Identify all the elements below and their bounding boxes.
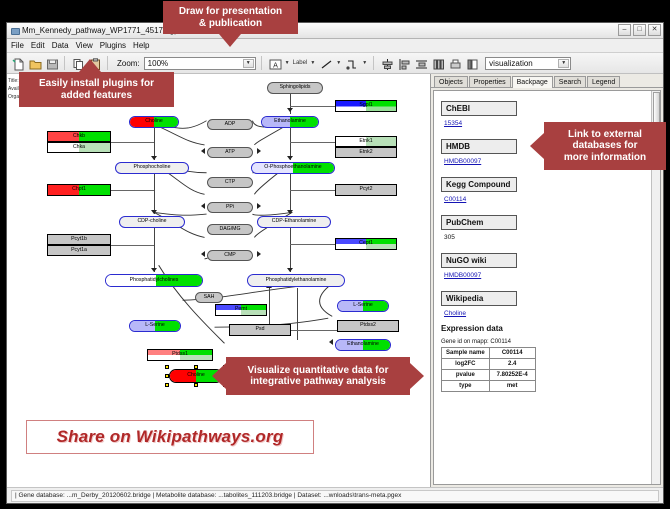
status-text: | Gene database: ...m_Derby_20120602.bri… (11, 490, 659, 502)
label-tool-label[interactable]: Label (293, 60, 308, 66)
arrowhead-atp (201, 148, 205, 154)
arrowhead-4 (287, 108, 293, 112)
expr-val-type: met (489, 381, 535, 392)
minimize-button[interactable]: – (618, 24, 631, 36)
callout-draw: Draw for presentation & publication (163, 1, 298, 34)
node-o-phosphoethanolamine[interactable]: O-Phosphoethanolamine (251, 162, 335, 174)
node-etnk1[interactable]: Etnk1 (335, 136, 397, 147)
svg-text:A: A (273, 61, 278, 69)
zoom-combo[interactable]: 100% ▼ (144, 57, 256, 70)
arrowhead-7 (287, 268, 293, 272)
connector-tool-chevron-icon[interactable]: ▼ (362, 60, 367, 66)
table-row: pvalue 7.80252E-4 (442, 370, 536, 381)
distribute-icon[interactable] (413, 56, 428, 71)
tab-legend[interactable]: Legend (587, 76, 620, 87)
arrowhead-2 (151, 210, 157, 214)
toolbar-separator-3 (261, 56, 262, 70)
maximize-button[interactable]: □ (633, 24, 646, 36)
toolbar-separator-2 (107, 56, 108, 70)
edge-ptdss2-pe (297, 288, 298, 340)
title-bar: Mm_Kennedy_pathway_WP1771_45176.gpml – □… (7, 23, 663, 39)
align-left-icon[interactable] (396, 56, 411, 71)
toolbar: Zoom: 100% ▼ A ▼ Label ▼ ▼ ▼ (7, 53, 663, 74)
open-folder-icon[interactable] (27, 56, 42, 71)
node-pemt[interactable]: Pemt (215, 304, 267, 316)
link-pcyt2-spine (290, 190, 335, 191)
table-row: Sample name C00114 (442, 348, 536, 359)
node-pcyt1a[interactable]: Pcyt1a (47, 245, 111, 256)
table-row: log2FC 2.4 (442, 359, 536, 370)
text-tool-chevron-icon[interactable]: ▼ (285, 60, 290, 66)
db-link-wikipedia[interactable]: Choline (444, 310, 644, 317)
zoom-value: 100% (148, 59, 168, 68)
zoom-label: Zoom: (117, 59, 140, 68)
resize-handle-w[interactable] (165, 374, 169, 378)
callout-links: Link to external databases for more info… (544, 122, 666, 170)
arrowhead-atp-r (257, 148, 261, 154)
arrowhead-cmp-r (257, 251, 261, 257)
node-phosphatidylethanolamine[interactable]: Phosphatidylethanolamine (247, 274, 345, 287)
db-link-kegg[interactable]: C00114 (444, 196, 644, 203)
app-icon (10, 26, 19, 35)
resize-handle-s[interactable] (194, 383, 198, 387)
db-header-nugo: NuGO wiki (441, 253, 517, 268)
node-cdp-choline[interactable]: CDP-choline (119, 216, 185, 228)
visualization-value: visualization (489, 59, 533, 68)
edge-phosphocholine-cdpcholine (154, 174, 155, 214)
callout-draw-arrow-icon (219, 34, 241, 47)
tab-properties[interactable]: Properties (469, 76, 511, 87)
expr-key-sample-name: Sample name (442, 348, 490, 359)
node-chpt1[interactable]: Chpt1 (47, 184, 111, 196)
db-header-chebi: ChEBI (441, 101, 517, 116)
expression-table: Sample name C00114 log2FC 2.4 pvalue 7.8… (441, 347, 536, 392)
db-header-kegg: Kegg Compound (441, 177, 517, 192)
line-tool-chevron-icon[interactable]: ▼ (336, 60, 341, 66)
node-phosphatidylcholines[interactable]: Phosphatidylcholines (105, 274, 203, 287)
node-psd[interactable]: Psd (229, 324, 291, 336)
resize-handle-sw[interactable] (165, 383, 169, 387)
save-icon[interactable] (44, 56, 59, 71)
node-adp[interactable]: ADP (207, 119, 253, 130)
node-ethanolamine[interactable]: Ethanolamine (261, 116, 319, 128)
toolbar-separator-1 (64, 56, 65, 70)
edge-cdpcholine-pc (154, 228, 155, 272)
node-atp[interactable]: ATP (207, 147, 253, 158)
node-sah[interactable]: SAH (195, 292, 223, 303)
menu-plugins[interactable]: Plugins (100, 41, 126, 50)
resize-handle-nw[interactable] (165, 365, 169, 369)
callout-visualize-arrow-left-icon (212, 363, 226, 389)
expr-val-log2fc: 2.4 (489, 359, 535, 370)
expr-val-pvalue: 7.80252E-4 (489, 370, 535, 381)
expr-key-log2fc: log2FC (442, 359, 490, 370)
expr-key-pvalue: pvalue (442, 370, 490, 381)
node-cdp-ethanolamine[interactable]: CDP-Ethanolamine (257, 216, 331, 228)
line-tool-icon[interactable] (318, 56, 333, 71)
resize-handle-n[interactable] (194, 365, 198, 369)
menu-data[interactable]: Data (52, 41, 69, 50)
table-row: type met (442, 381, 536, 392)
node-ptdss2[interactable]: Ptdss2 (337, 320, 399, 332)
expression-data-heading: Expression data (441, 324, 644, 333)
node-phosphocholine[interactable]: Phosphocholine (115, 162, 189, 174)
visualization-combo[interactable]: visualization ▼ (485, 57, 571, 70)
node-cmp[interactable]: CMP (207, 250, 253, 261)
layer-icon[interactable] (464, 56, 479, 71)
connector-tool-icon[interactable] (344, 56, 359, 71)
callout-visualize-arrow-right-icon (410, 363, 424, 389)
print-icon[interactable] (447, 56, 462, 71)
link-etnk-spine (290, 142, 335, 143)
expr-val-sample-name: C00114 (489, 348, 535, 359)
menu-bar: File Edit Data View Plugins Help (7, 39, 663, 53)
node-sgpl1[interactable]: Sgpl1 (335, 100, 397, 112)
node-ctp[interactable]: CTP (207, 177, 253, 188)
node-l-serine-left[interactable]: L-Serine (129, 320, 181, 332)
arrowhead-6 (287, 210, 293, 214)
gene-id-label: Gene id on mapp: C00114 (441, 339, 644, 345)
menu-edit[interactable]: Edit (31, 41, 45, 50)
chevron-down-icon-2[interactable]: ▼ (558, 59, 569, 68)
expr-key-type: type (442, 381, 490, 392)
menu-view[interactable]: View (76, 41, 93, 50)
edge-cdpethanolamine-pe (290, 228, 291, 272)
link-ptdss2-spine (291, 330, 337, 331)
status-bar: | Gene database: ...m_Derby_20120602.bri… (7, 487, 663, 503)
menu-help[interactable]: Help (133, 41, 149, 50)
node-l-serine-right[interactable]: L-Serine (337, 300, 389, 312)
label-tool-chevron-icon[interactable]: ▼ (310, 60, 315, 66)
db-value-pubchem: 305 (444, 234, 644, 241)
callout-visualize: Visualize quantitative data for integrat… (226, 357, 410, 395)
new-file-icon[interactable] (10, 56, 25, 71)
arrowhead-etn (329, 339, 333, 345)
arrowhead-cmp (201, 251, 205, 257)
text-tool-icon[interactable]: A (267, 56, 282, 71)
node-ethanolamine-right[interactable]: Ethanolamine (335, 339, 391, 351)
callout-share: Share on Wikipathways.org (26, 420, 314, 454)
node-choline[interactable]: Choline (129, 116, 179, 128)
tab-objects[interactable]: Objects (434, 76, 468, 87)
node-pcyt2[interactable]: Pcyt2 (335, 184, 397, 196)
menu-file[interactable]: File (11, 41, 24, 50)
tab-search[interactable]: Search (554, 76, 586, 87)
arrowhead-3 (151, 268, 157, 272)
window-controls: – □ ✕ (618, 24, 661, 36)
link-sgpl1-spine (290, 106, 335, 107)
db-header-pubchem: PubChem (441, 215, 517, 230)
node-ptdss1[interactable]: Ptdss1 (147, 349, 213, 361)
close-button[interactable]: ✕ (648, 24, 661, 36)
align-center-icon[interactable] (379, 56, 394, 71)
node-ppi[interactable]: PPi (207, 202, 253, 213)
node-dag-mg[interactable]: DAG/MG (207, 224, 253, 235)
arrowhead-1 (151, 156, 157, 160)
callout-plugins-arrow-icon (79, 59, 101, 72)
toolbar-separator-4 (373, 56, 374, 70)
link-chk-spine (111, 142, 154, 143)
node-cept1[interactable]: Cept1 (335, 238, 397, 250)
db-header-wikipedia: Wikipedia (441, 291, 517, 306)
arrowhead-5 (287, 156, 293, 160)
node-sphingolipids[interactable]: Sphingolipids (267, 82, 323, 94)
callout-links-arrow-icon (530, 133, 544, 159)
db-header-hmdb: HMDB (441, 139, 517, 154)
arrowhead-ppi-r (257, 203, 261, 209)
stack-icon[interactable] (430, 56, 445, 71)
chevron-down-icon[interactable]: ▼ (243, 59, 254, 68)
node-etnk2[interactable]: Etnk2 (335, 147, 397, 158)
node-pcyt1b[interactable]: Pcyt1b (47, 234, 111, 245)
arrowhead-ppi (201, 203, 205, 209)
link-cept1-spine (290, 244, 335, 245)
node-chka[interactable]: Chka (47, 142, 111, 153)
node-chkb[interactable]: Chkb (47, 131, 111, 142)
db-link-nugo[interactable]: HMDB00097 (444, 272, 644, 279)
tab-backpage[interactable]: Backpage (512, 76, 553, 88)
edge-pethanolamine-cdpethanolamine (290, 174, 291, 214)
side-panel-tabs: Objects Properties Backpage Search Legen… (431, 74, 663, 88)
link-chpt1-spine (111, 190, 154, 191)
link-pcyt1-spine (111, 245, 154, 246)
callout-plugins: Easily install plugins for added feature… (19, 72, 174, 107)
